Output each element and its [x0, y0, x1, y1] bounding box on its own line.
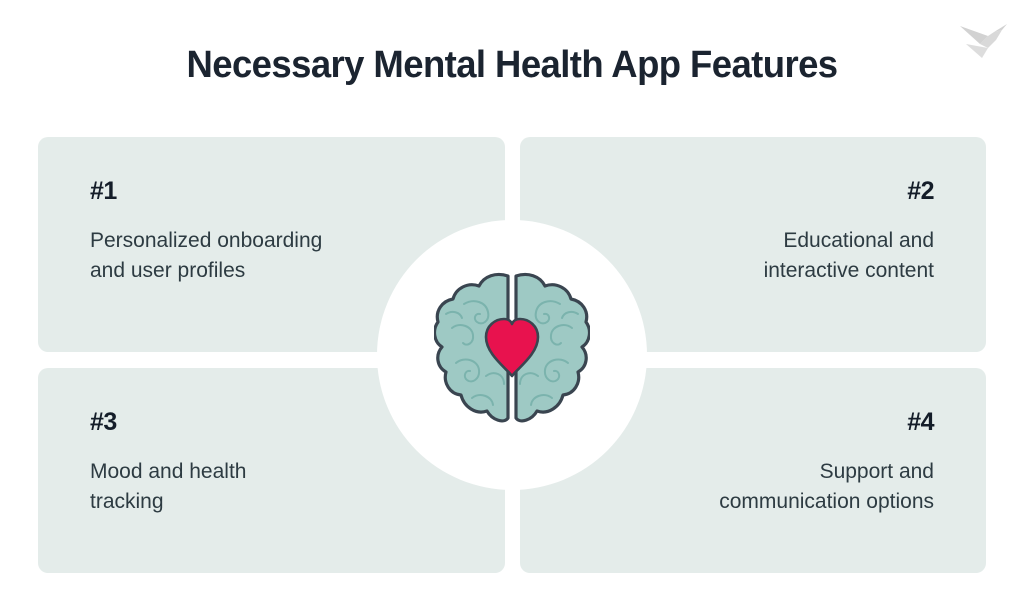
- feature-text: Mood and health tracking: [90, 457, 453, 517]
- feature-text: Personalized onboarding and user profile…: [90, 226, 453, 286]
- page-title: Necessary Mental Health App Features: [20, 44, 1003, 87]
- feature-number: #2: [572, 179, 934, 204]
- feature-number: #1: [90, 179, 453, 204]
- infographic-canvas: Necessary Mental Health App Features #1 …: [0, 0, 1024, 614]
- feature-text: Educational and interactive content: [572, 226, 934, 286]
- feature-text: Support and communication options: [572, 457, 934, 517]
- brain-with-heart-icon: [434, 268, 590, 428]
